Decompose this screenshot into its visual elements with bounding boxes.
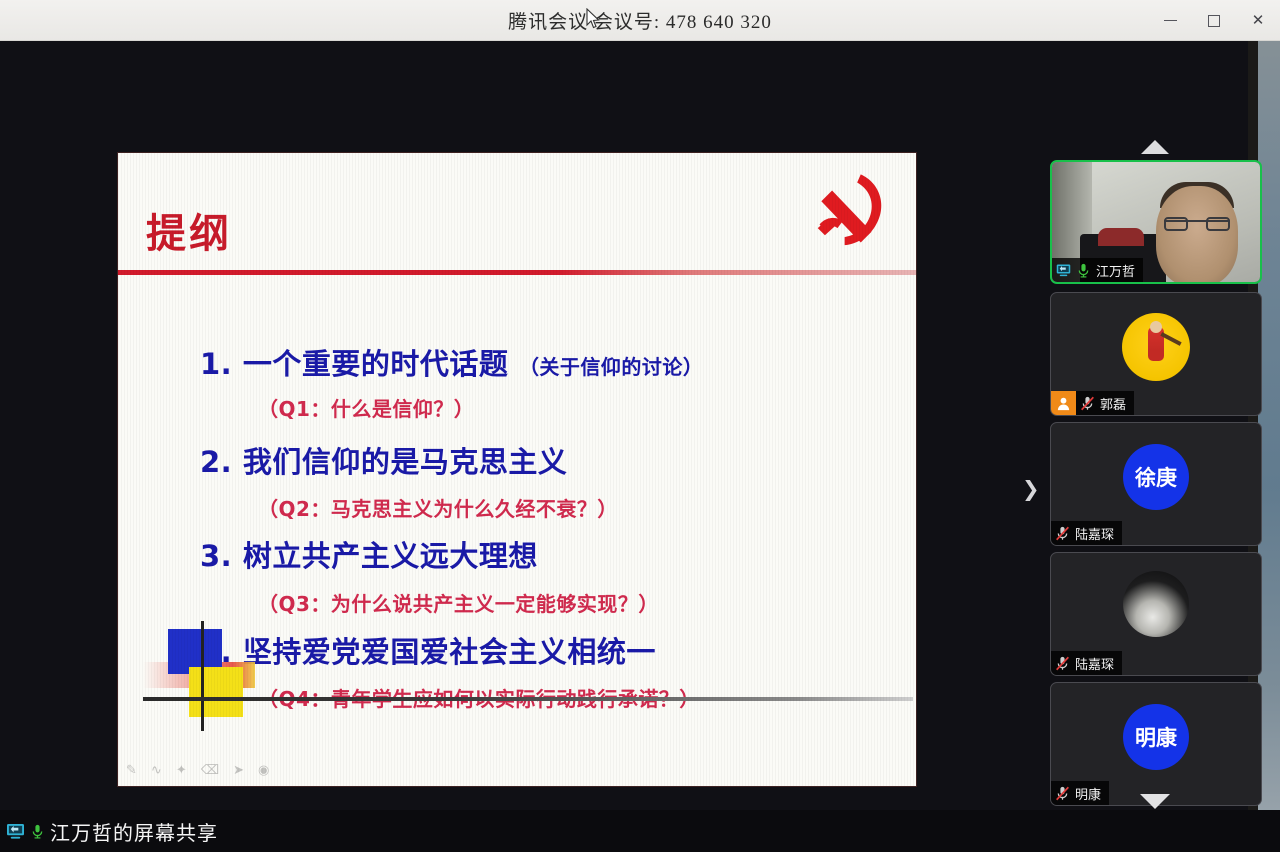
outline-question-3: （Q3：为什么说共产主义一定能够实现？） [258,588,659,617]
pointer-icon[interactable]: ➤ [233,762,244,778]
meeting-stage: 提纲 1. 一个重要的时代话题 （关于信仰的讨论） （Q1：什么是信仰？） 2.… [0,41,1280,852]
mic-on-icon [30,824,45,839]
screen-share-icon [6,823,25,840]
outline-item-2: 2. 我们信仰的是马克思主义 [200,439,567,481]
mic-muted-icon [1055,656,1070,671]
screen-share-icon [1056,263,1071,278]
minimize-button[interactable] [1148,0,1192,41]
chevron-right-icon[interactable]: ❯ [1022,479,1040,500]
mic-on-icon [1076,263,1091,278]
outline-item-1: 1. 一个重要的时代话题 （关于信仰的讨论） [200,341,703,383]
slide-title: 提纲 [146,201,232,259]
participant-tile[interactable]: 陆嘉琛 [1050,552,1262,676]
outline-question-2: （Q2：马克思主义为什么久经不衰？） [258,493,618,522]
pen-icon[interactable]: ✎ [126,762,137,778]
meeting-window: 腾讯会议 会议号: 478 640 320 ✕ 提纲 1. [0,0,1280,852]
outline-item-3-num: 3. [200,539,232,573]
participant-tile[interactable]: 明康 明康 [1050,682,1262,806]
participant-name: 陆嘉琛 [1075,654,1114,673]
window-controls: ✕ [1148,0,1280,41]
triangle-up-icon[interactable] [1042,82,1268,154]
close-button[interactable]: ✕ [1236,0,1280,41]
host-badge [1051,391,1076,415]
outline-item-3: 3. 树立共产主义远大理想 [200,533,538,575]
outline-item-2-num: 2. [200,445,232,479]
participant-name: 陆嘉琛 [1075,524,1114,543]
share-status-text: 江万哲的屏幕共享 [50,817,218,846]
tile-label: 江万哲 [1052,258,1143,282]
decoration-vertical-line [201,621,204,731]
participant-tile[interactable]: 郭磊 [1050,292,1262,416]
decoration-yellow-square [189,667,243,717]
slide-decoration [143,629,353,724]
decoration-horizontal-line [143,697,913,701]
participant-tile[interactable]: 江万哲 [1050,160,1262,284]
participant-name: 郭磊 [1100,394,1126,413]
presenter-toolbar[interactable]: ✎ ∿ ✦ ⌫ ➤ ◉ [126,762,269,778]
mic-muted-icon [1055,526,1070,541]
title-bar: 腾讯会议 会议号: 478 640 320 ✕ [0,0,1280,41]
avatar: 明康 [1123,704,1189,770]
maximize-button[interactable] [1192,0,1236,41]
tile-label: 陆嘉琛 [1051,651,1122,675]
tile-label: 陆嘉琛 [1051,521,1122,545]
host-person-icon [1056,396,1071,411]
outline-item-1-text: 一个重要的时代话题 [243,347,509,381]
outline-item-1-note: （关于信仰的讨论） [519,355,704,379]
shared-slide[interactable]: 提纲 1. 一个重要的时代话题 （关于信仰的讨论） （Q1：什么是信仰？） 2.… [118,153,916,786]
eraser-icon[interactable]: ⌫ [201,762,219,778]
ink-icon[interactable]: ∿ [151,762,162,778]
participant-rail: 江万哲 [1042,82,1268,852]
more-options-icon[interactable]: ◉ [258,762,269,778]
participant-name: 江万哲 [1096,261,1135,280]
outline-question-1: （Q1：什么是信仰？） [258,393,474,422]
mic-muted-icon [1080,396,1095,411]
participant-tile[interactable]: 徐庚 陆嘉琛 [1050,422,1262,546]
avatar [1122,313,1190,381]
highlighter-icon[interactable]: ✦ [176,762,187,778]
triangle-down-icon[interactable] [1042,794,1268,809]
title-underline [118,270,916,275]
window-title: 腾讯会议 会议号: 478 640 320 [508,7,772,34]
avatar [1123,571,1189,637]
avatar: 徐庚 [1123,444,1189,510]
screen-share-status-bar: 江万哲的屏幕共享 [0,810,1280,852]
outline-item-2-text: 我们信仰的是马克思主义 [243,445,568,479]
hammer-and-sickle-icon [804,169,896,255]
outline-item-1-num: 1. [200,347,232,381]
outline-item-3-text: 树立共产主义远大理想 [243,539,538,573]
tile-label: 郭磊 [1076,391,1134,415]
